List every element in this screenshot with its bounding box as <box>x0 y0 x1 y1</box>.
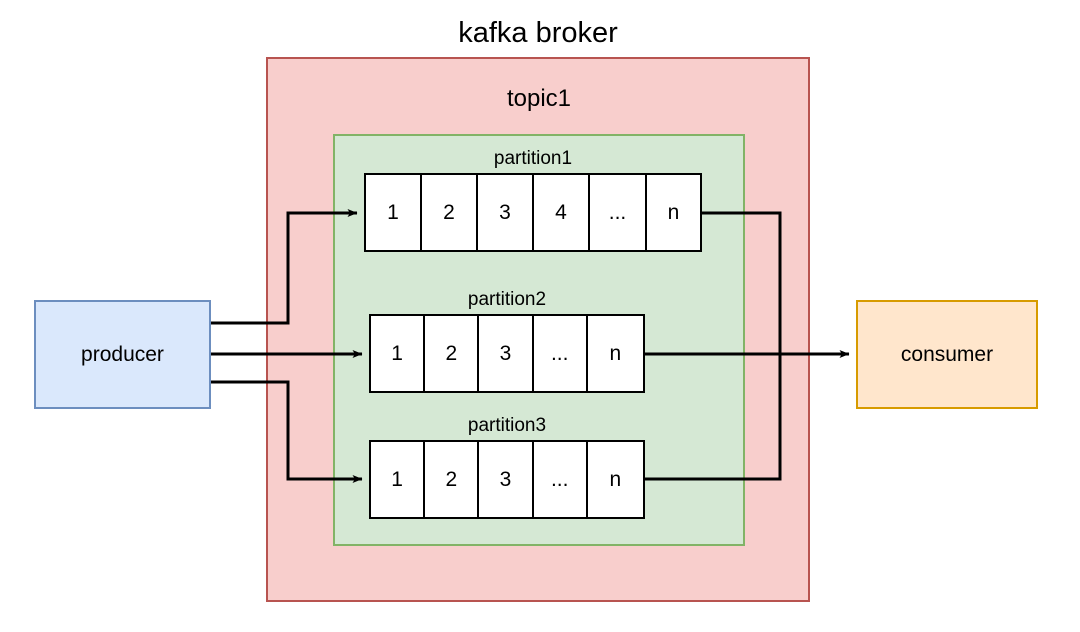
producer-label: producer <box>81 343 164 367</box>
producer-node[interactable]: producer <box>34 300 211 409</box>
diagram-canvas: kafka broker topic1 partition1 1 2 3 4 .… <box>0 0 1080 632</box>
consumer-label: consumer <box>901 343 993 367</box>
edge-producer-to-partition1 <box>211 213 357 323</box>
consumer-node[interactable]: consumer <box>856 300 1038 409</box>
edge-partition1-to-bus <box>702 213 780 354</box>
edge-producer-to-partition3 <box>211 382 362 479</box>
edge-partition3-to-bus <box>645 354 780 479</box>
